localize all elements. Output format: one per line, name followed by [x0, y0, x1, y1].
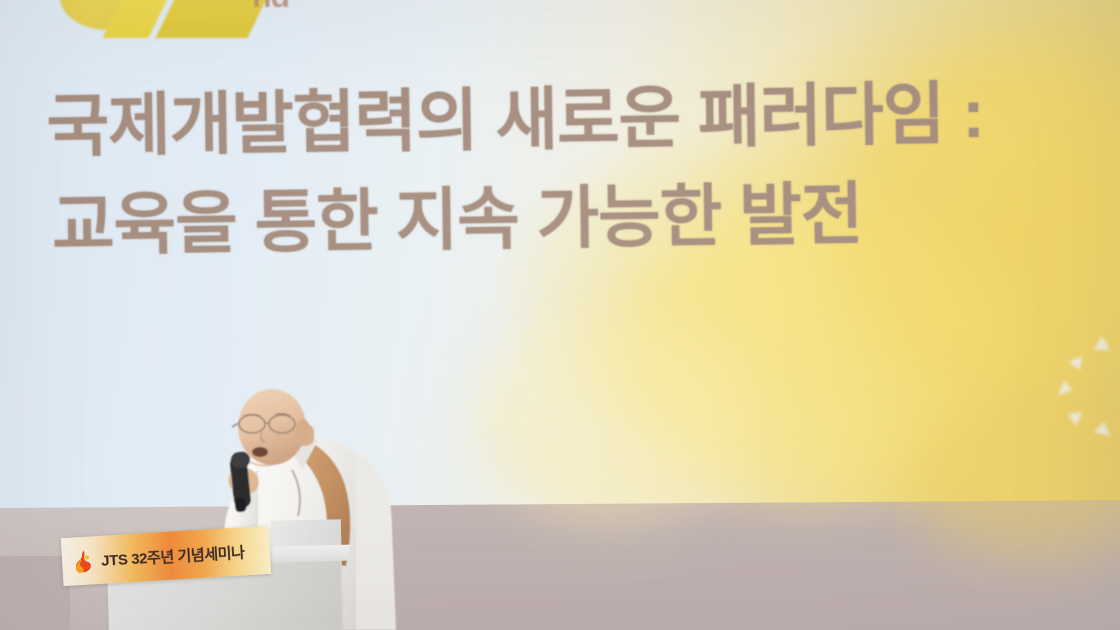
slide-title-line-1: 국제개발협력의 새로운 패러다임 :	[46, 63, 1107, 177]
podium-banner-text: JTS 32주년 기념세미나	[100, 541, 245, 570]
room-wall-seam	[0, 556, 70, 630]
slide-logo-band: nd	[0, 0, 520, 40]
slide-title-line-2: 교육을 통한 지속 가능한 발전	[51, 162, 1108, 276]
photo-scene: nd 국제개발협력의 새로운 패러다임 : 교육을 통한 지속 가능한 발전	[0, 0, 1120, 630]
jts-flame-logo-icon	[69, 547, 96, 574]
sunburst-icon	[1042, 328, 1120, 448]
logo-ordinal-text: nd	[252, 0, 289, 15]
slide-title: 국제개발협력의 새로운 패러다임 : 교육을 통한 지속 가능한 발전	[46, 63, 1109, 276]
